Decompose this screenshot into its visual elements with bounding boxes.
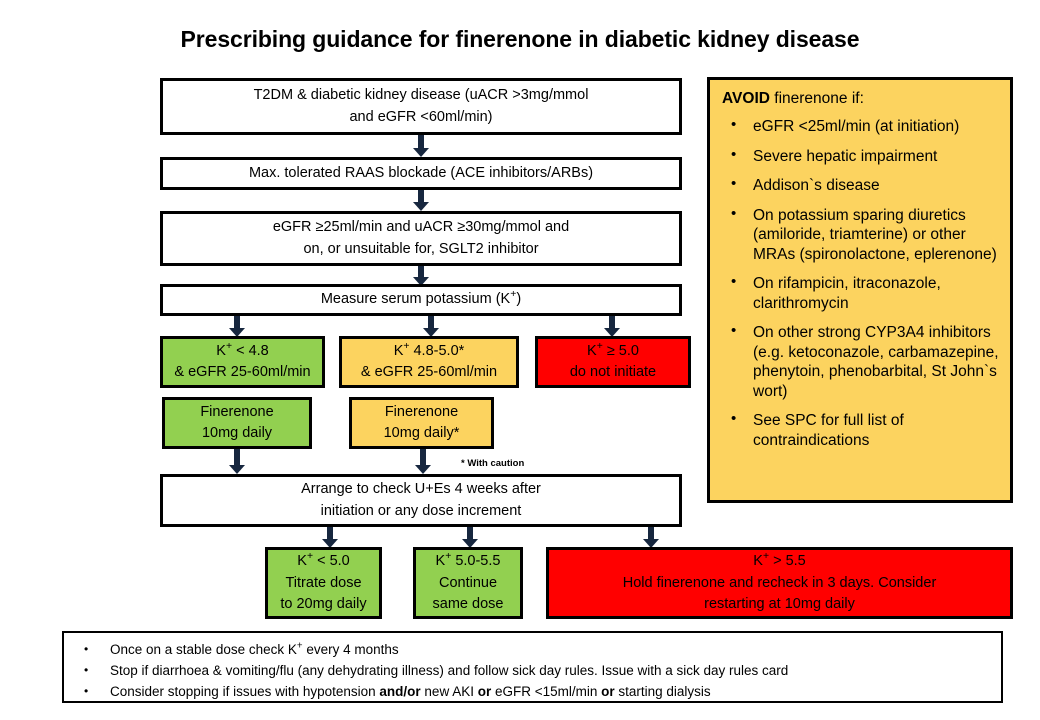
flow-box-egfr-uacr-criteria-line2: on, or unsuitable for, SGLT2 inhibitor [303,239,538,260]
notes-list-item: • Once on a stable dose check K+ every 4… [72,640,993,661]
arrow-to-branch-amber [423,316,439,337]
avoid-list-item-text: See SPC for full list of contraindicatio… [753,412,904,449]
arrow-to-outcome-continue [462,527,478,548]
flow-box-egfr-uacr-criteria-line1: eGFR ≥25ml/min and uACR ≥30mg/mmol and [273,217,569,238]
branch-box-potassium-low: K+ < 4.8 & eGFR 25-60ml/min [160,336,325,388]
branch-box-potassium-mid-line2: & eGFR 25-60ml/min [361,362,497,383]
bullet-icon: • [731,205,736,224]
arrow-shaft [609,316,615,328]
bullet-icon: • [731,116,736,135]
flow-box-raas-blockade: Max. tolerated RAAS blockade (ACE inhibi… [160,157,682,190]
arrow-shaft [418,135,424,148]
avoid-list-item: • Addison`s disease [722,176,1000,196]
outcome-box-hold-finerenone-line1: K+ > 5.5 [753,551,805,572]
bullet-icon: • [84,640,88,659]
arrow-head [415,465,431,474]
arrow-shaft [418,266,424,277]
arrow-to-outcome-hold [643,527,659,548]
branch-box-potassium-high-line1: K+ ≥ 5.0 [587,341,639,362]
outcome-box-continue-dose-line2: Continue [439,573,497,594]
arrow-dose-green-to-monitor [229,449,245,474]
arrow-step3-to-step4 [413,266,429,286]
avoid-list-item-text: On rifampicin, itraconazole, clarithromy… [753,275,941,312]
avoid-list-item: • eGFR <25ml/min (at initiation) [722,117,1000,137]
bullet-icon: • [731,322,736,341]
arrow-to-outcome-titrate [322,527,338,548]
notes-list-item: • Stop if diarrhoea & vomiting/flu (any … [72,661,993,682]
notes-list-item-text: Stop if diarrhoea & vomiting/flu (any de… [110,663,788,678]
flow-box-eligibility-line2: and eGFR <60ml/min) [349,107,492,128]
dose-box-finerenone-amber-line2: 10mg daily* [384,423,460,444]
flow-box-arrange-monitoring-line1: Arrange to check U+Es 4 weeks after [301,479,541,500]
avoid-list-item: • On potassium sparing diuretics (amilor… [722,206,1000,265]
arrow-to-branch-green [229,316,245,337]
flow-box-eligibility: T2DM & diabetic kidney disease (uACR >3m… [160,78,682,135]
notes-list: • Once on a stable dose check K+ every 4… [72,640,993,703]
branch-box-potassium-low-line1: K+ < 4.8 [216,341,268,362]
page-title: Prescribing guidance for finerenone in d… [0,26,1040,53]
avoid-list-item: • See SPC for full list of contraindicat… [722,411,1000,450]
branch-box-potassium-mid: K+ 4.8-5.0* & eGFR 25-60ml/min [339,336,519,388]
arrow-head [229,465,245,474]
avoid-list-item-text: On other strong CYP3A4 inhibitors (e.g. … [753,324,999,400]
arrow-head [413,202,429,211]
bullet-icon: • [84,682,88,701]
flow-box-measure-potassium-line1: Measure serum potassium (K+) [321,289,521,310]
arrow-dose-amber-to-monitor [415,449,431,474]
flow-box-measure-potassium: Measure serum potassium (K+) [160,284,682,316]
flow-box-arrange-monitoring: Arrange to check U+Es 4 weeks after init… [160,474,682,527]
avoid-panel: AVOID finerenone if: • eGFR <25ml/min (a… [707,77,1013,503]
dose-box-finerenone-amber: Finerenone 10mg daily* [349,397,494,449]
arrow-shaft [420,449,426,465]
dose-box-finerenone-green-line1: Finerenone [200,402,273,423]
flow-box-egfr-uacr-criteria: eGFR ≥25ml/min and uACR ≥30mg/mmol and o… [160,211,682,266]
dose-box-finerenone-green-line2: 10mg daily [202,423,272,444]
bullet-icon: • [731,273,736,292]
arrow-shaft [418,190,424,202]
arrow-shaft [467,527,473,539]
arrow-shaft [234,316,240,328]
arrow-shaft [234,449,240,465]
bullet-icon: • [731,175,736,194]
flowchart-canvas: Prescribing guidance for finerenone in d… [0,0,1040,720]
arrow-shaft [428,316,434,328]
avoid-panel-heading: AVOID finerenone if: [722,90,1000,108]
outcome-box-titrate-dose-line1: K+ < 5.0 [297,551,349,572]
flow-box-raas-blockade-line1: Max. tolerated RAAS blockade (ACE inhibi… [249,163,593,184]
notes-list-item: • Consider stopping if issues with hypot… [72,682,993,703]
outcome-box-continue-dose-line3: same dose [433,594,504,615]
avoid-panel-list: • eGFR <25ml/min (at initiation) • Sever… [722,117,1000,450]
branch-box-potassium-high: K+ ≥ 5.0 do not initiate [535,336,691,388]
bullet-icon: • [731,410,736,429]
avoid-list-item-text: eGFR <25ml/min (at initiation) [753,118,959,135]
branch-box-potassium-mid-line1: K+ 4.8-5.0* [394,341,465,362]
branch-box-potassium-high-line2: do not initiate [570,362,656,383]
dose-box-finerenone-amber-line1: Finerenone [385,402,458,423]
avoid-list-item-text: Addison`s disease [753,177,880,194]
outcome-box-continue-dose-line1: K+ 5.0-5.5 [436,551,501,572]
caution-footnote: * With caution [461,458,524,469]
outcome-box-hold-finerenone: K+ > 5.5 Hold finerenone and recheck in … [546,547,1013,619]
outcome-box-continue-dose: K+ 5.0-5.5 Continue same dose [413,547,523,619]
bullet-icon: • [84,661,88,680]
notes-list-item-text: Consider stopping if issues with hypoten… [110,684,711,699]
outcome-box-titrate-dose: K+ < 5.0 Titrate dose to 20mg daily [265,547,382,619]
arrow-shaft [648,527,654,539]
outcome-box-titrate-dose-line2: Titrate dose [285,573,361,594]
avoid-list-item-text: On potassium sparing diuretics (amilorid… [753,207,997,263]
outcome-box-hold-finerenone-line2: Hold finerenone and recheck in 3 days. C… [623,573,937,594]
bullet-icon: • [731,146,736,165]
branch-box-potassium-low-line2: & eGFR 25-60ml/min [174,362,310,383]
arrow-step2-to-step3 [413,190,429,211]
flow-box-eligibility-line1: T2DM & diabetic kidney disease (uACR >3m… [254,85,589,106]
avoid-list-item: • On other strong CYP3A4 inhibitors (e.g… [722,323,1000,401]
outcome-box-hold-finerenone-line3: restarting at 10mg daily [704,594,855,615]
notes-panel: • Once on a stable dose check K+ every 4… [62,631,1003,703]
arrow-head [413,148,429,157]
notes-list-item-text: Once on a stable dose check K+ every 4 m… [110,642,399,657]
avoid-panel-heading-bold: AVOID [722,90,770,107]
dose-box-finerenone-green: Finerenone 10mg daily [162,397,312,449]
flow-box-arrange-monitoring-line2: initiation or any dose increment [321,501,522,522]
arrow-shaft [327,527,333,539]
avoid-list-item: • Severe hepatic impairment [722,147,1000,167]
avoid-list-item: • On rifampicin, itraconazole, clarithro… [722,274,1000,313]
outcome-box-titrate-dose-line3: to 20mg daily [280,594,366,615]
arrow-to-branch-red [604,316,620,337]
arrow-step1-to-step2 [413,135,429,157]
avoid-list-item-text: Severe hepatic impairment [753,148,937,165]
avoid-panel-heading-rest: finerenone if: [770,90,864,107]
